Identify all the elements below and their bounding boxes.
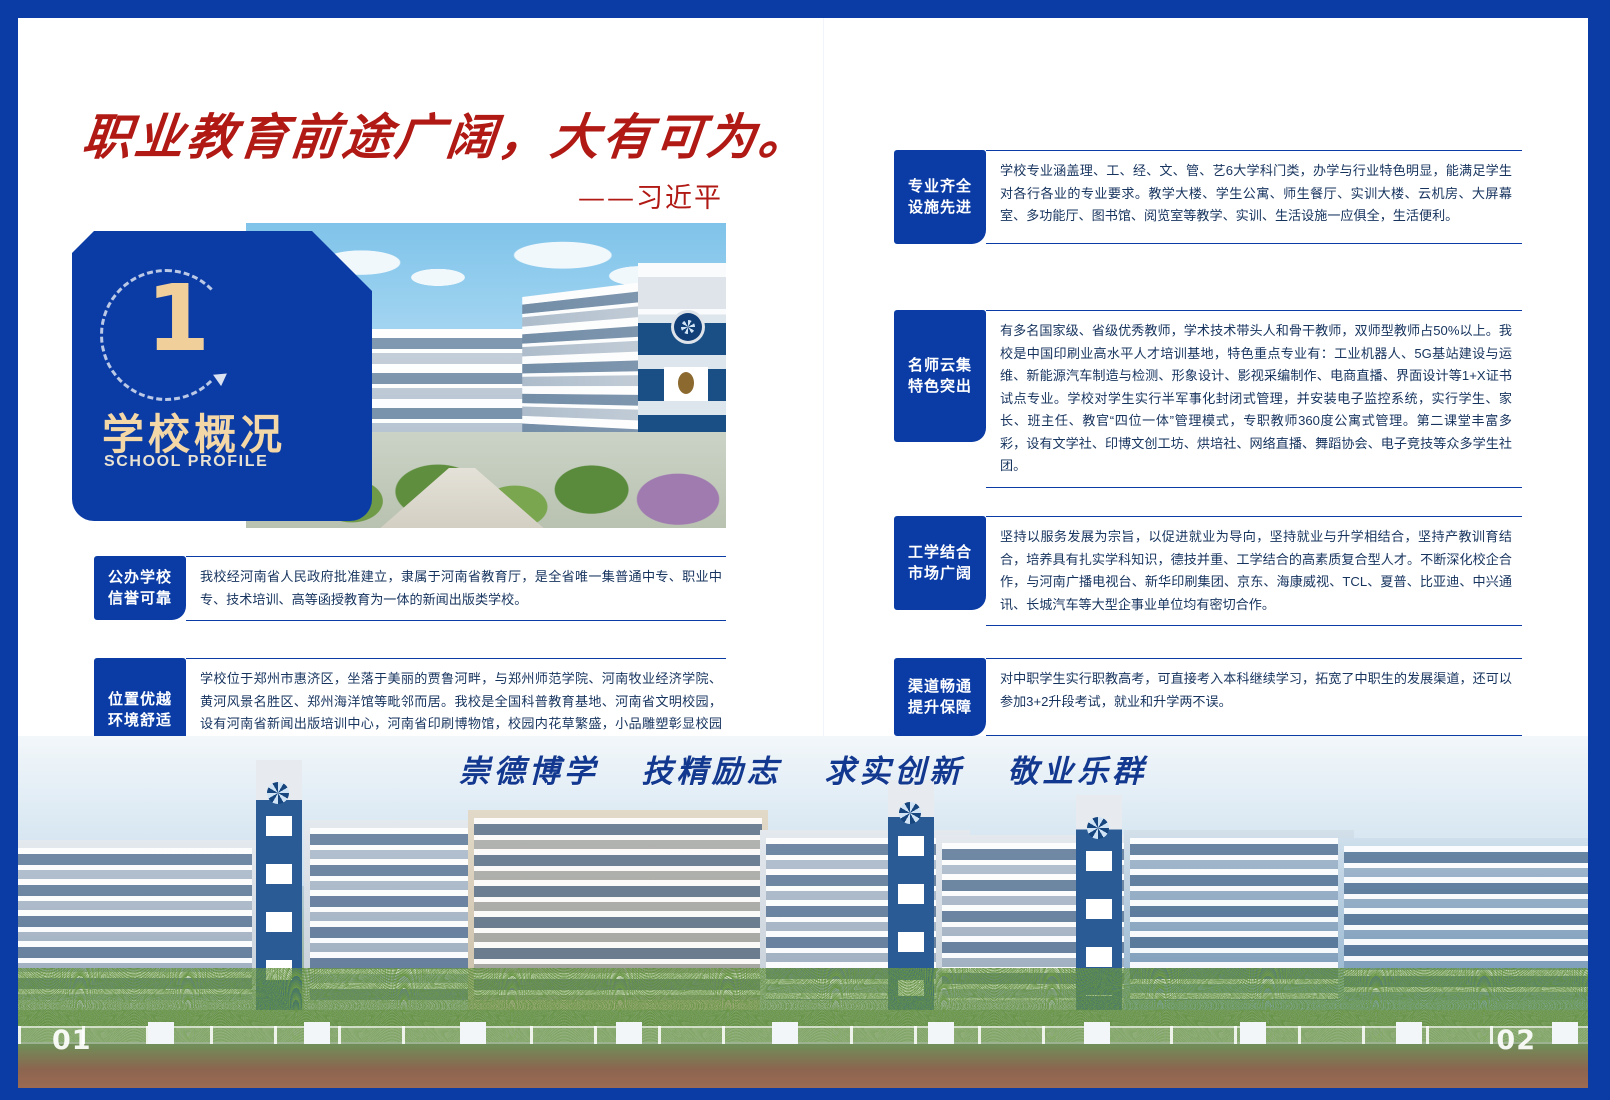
info-block-label: 公办学校 信誉可靠	[94, 556, 186, 620]
headline-attribution: ——习近平	[83, 176, 723, 215]
tower-signboard	[664, 367, 708, 401]
label-line-1: 专业齐全	[908, 176, 972, 197]
campus-panorama-photo: 崇德博学 技精励志 求实创新 敬业乐群 01 02	[18, 736, 1588, 1088]
info-block-label: 渠道畅通 提升保障	[894, 658, 986, 736]
section-number: 1	[146, 273, 210, 365]
motto-part-2: 技精励志	[642, 754, 782, 790]
info-block-text: 我校经河南省人民政府批准建立，隶属于河南省教育厅，是全省唯一集普通中专、职业中专…	[186, 556, 726, 621]
label-line-2: 提升保障	[908, 697, 972, 718]
label-line-2: 市场广阔	[908, 563, 972, 584]
info-block-majors: 专业齐全 设施先进 学校专业涵盖理、工、经、文、管、艺6大学科门类，办学与行业特…	[894, 150, 1522, 244]
section-number-card: 1 学校概况 SCHOOL PROFILE	[72, 231, 372, 521]
info-block-teachers: 名师云集 特色突出 有多名国家级、省级优秀教师，学术技术带头人和骨干教师，双师型…	[894, 310, 1522, 488]
page-headline-quote: 职业教育前途广阔，大有可为。	[79, 98, 746, 169]
info-block-text: 学校专业涵盖理、工、经、文、管、艺6大学科门类，办学与行业特色明显，能满足学生对…	[986, 150, 1522, 244]
label-line-1: 工学结合	[908, 542, 972, 563]
panorama-running-track	[18, 1044, 1588, 1088]
info-block-text: 坚持以服务发展为宗旨，以促进就业为导向，坚持就业与升学相结合，坚持产教训育结合，…	[986, 516, 1522, 626]
page-canvas: 职业教育前途广阔，大有可为。 ——习近平	[18, 18, 1588, 1088]
school-emblem-icon	[674, 313, 702, 341]
label-line-1: 公办学校	[108, 567, 172, 588]
brochure-spread: 职业教育前途广阔，大有可为。 ——习近平	[0, 0, 1610, 1100]
motto-part-3: 求实创新	[824, 754, 964, 790]
info-block-public-school: 公办学校 信誉可靠 我校经河南省人民政府批准建立，隶属于河南省教育厅，是全省唯一…	[94, 556, 726, 621]
motto-part-4: 敬业乐群	[1007, 754, 1147, 790]
label-line-2: 环境舒适	[108, 710, 172, 731]
motto-part-1: 崇德博学	[459, 754, 599, 790]
label-line-1: 位置优越	[108, 689, 172, 710]
label-line-2: 特色突出	[908, 376, 972, 397]
label-line-2: 设施先进	[908, 197, 972, 218]
page-number-right: 02	[1496, 1025, 1536, 1056]
info-block-channels: 渠道畅通 提升保障 对中职学生实行职教高考，可直接考入本科继续学习，拓宽了中职生…	[894, 658, 1522, 736]
info-block-work-study: 工学结合 市场广阔 坚持以服务发展为宗旨，以促进就业为导向，坚持就业与升学相结合…	[894, 516, 1522, 626]
page-number-left: 01	[52, 1025, 92, 1056]
section-hero: 1 学校概况 SCHOOL PROFILE	[72, 223, 726, 528]
info-block-text: 对中职学生实行职教高考，可直接考入本科继续学习，拓宽了中职生的发展渠道，还可以参…	[986, 658, 1522, 736]
label-line-1: 名师云集	[908, 355, 972, 376]
info-block-text: 有多名国家级、省级优秀教师，学术技术带头人和骨干教师，双师型教师占50%以上。我…	[986, 310, 1522, 488]
label-line-2: 信誉可靠	[108, 588, 172, 609]
school-motto: 崇德博学 技精励志 求实创新 敬业乐群	[18, 746, 1588, 791]
info-block-label: 专业齐全 设施先进	[894, 150, 986, 244]
section-title-en: SCHOOL PROFILE	[104, 453, 268, 471]
label-line-1: 渠道畅通	[908, 676, 972, 697]
info-block-label: 名师云集 特色突出	[894, 310, 986, 442]
info-block-label: 工学结合 市场广阔	[894, 516, 986, 610]
